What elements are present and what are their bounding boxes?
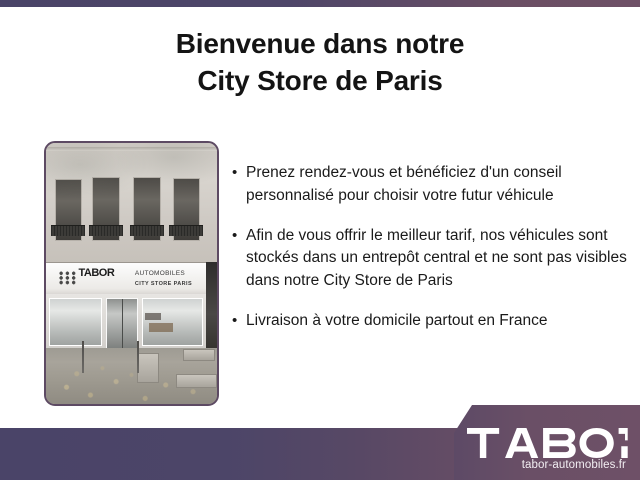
shop-window-pane	[142, 298, 204, 346]
sign-location-text: CITY STORE PARIS	[135, 282, 192, 288]
curb-stone	[137, 353, 159, 382]
street-bollard	[137, 341, 139, 372]
bullet-list: • Prenez rendez-vous et bénéficiez d'un …	[232, 162, 628, 333]
street-bollard	[82, 341, 84, 372]
shop-sign-board: TABOR AUTOMOBILES CITY STORE PARIS	[46, 262, 217, 297]
shop-interior-furniture	[145, 313, 160, 320]
shop-interior-desk	[149, 323, 173, 332]
slide-footer: tabor-automobiles.fr	[0, 405, 640, 480]
list-item: • Afin de vous offrir le meilleur tarif,…	[232, 225, 628, 293]
list-item: • Livraison à votre domicile partout en …	[232, 310, 628, 333]
curb-stone	[183, 349, 215, 361]
facade-window	[133, 177, 160, 242]
facade-window	[173, 178, 200, 242]
title-line-1: Bienvenue dans notre	[0, 25, 640, 62]
list-item: • Prenez rendez-vous et bénéficiez d'un …	[232, 162, 628, 208]
facade-balcony	[89, 225, 123, 237]
logo-tagline: tabor-automobiles.fr	[467, 459, 626, 471]
bullet-point-icon: •	[232, 310, 246, 332]
tabor-dots-logo-icon	[58, 271, 77, 285]
tabor-wordmark-icon	[467, 428, 628, 458]
shop-front-glazing	[46, 294, 217, 349]
building-facade	[46, 143, 217, 263]
bullet-text: Prenez rendez-vous et bénéficiez d'un co…	[246, 162, 628, 208]
bullet-text: Livraison à votre domicile partout en Fr…	[246, 310, 628, 333]
curb-stone	[176, 374, 217, 389]
facade-window	[92, 177, 119, 242]
facade-balcony	[51, 225, 85, 237]
facade-window	[55, 179, 82, 241]
storefront-photo-image: TABOR AUTOMOBILES CITY STORE PARIS	[46, 143, 217, 404]
facade-balcony	[130, 225, 164, 237]
sign-brand-text: TABOR	[78, 268, 114, 279]
title-line-2: City Store de Paris	[0, 62, 640, 99]
top-accent-bar	[0, 0, 640, 7]
bullet-point-icon: •	[232, 225, 246, 247]
bullet-text: Afin de vous offrir le meilleur tarif, n…	[246, 225, 628, 293]
neighbouring-dark-panel	[206, 262, 217, 349]
shop-entrance-door	[106, 298, 138, 350]
facade-balcony	[169, 225, 203, 237]
bullet-point-icon: •	[232, 162, 246, 184]
shop-window-pane	[49, 298, 102, 346]
pavement	[46, 348, 217, 404]
facade-cornice	[46, 147, 217, 152]
footer-logo-plateau: tabor-automobiles.fr	[454, 405, 640, 480]
tabor-logo: tabor-automobiles.fr	[467, 428, 628, 471]
sign-segment-text: AUTOMOBILES	[135, 271, 185, 278]
storefront-photo: TABOR AUTOMOBILES CITY STORE PARIS	[44, 141, 219, 406]
page-title: Bienvenue dans notre City Store de Paris	[0, 25, 640, 99]
